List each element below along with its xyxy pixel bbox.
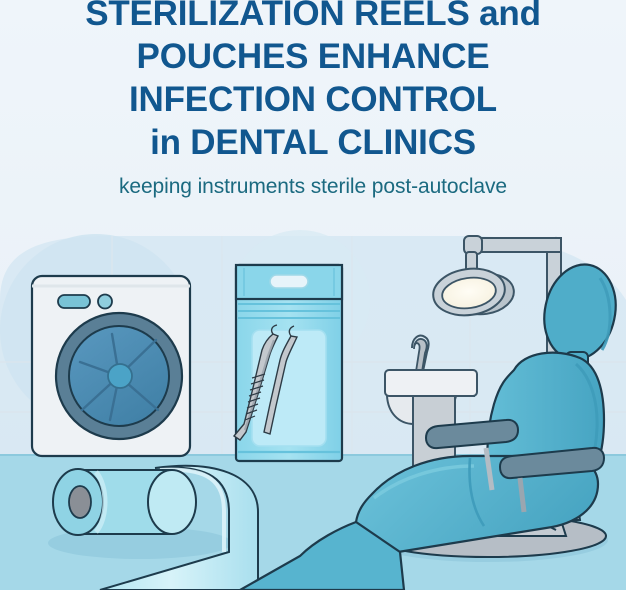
clinic-illustration — [0, 0, 626, 590]
autoclave-door-hub — [108, 364, 132, 388]
pouch-hang-hole — [270, 275, 308, 288]
poster-canvas: STERILIZATION REELS and POUCHES ENHANCE … — [0, 0, 626, 590]
autoclave-panel-knob — [98, 295, 112, 309]
autoclave-panel-slider — [58, 295, 90, 308]
spittoon-rim — [385, 370, 477, 396]
autoclave-sterilizer — [32, 276, 190, 456]
sterilization-pouch — [234, 265, 342, 461]
reel-roll-core — [69, 486, 91, 518]
reel-roll-far-rim — [148, 470, 196, 534]
